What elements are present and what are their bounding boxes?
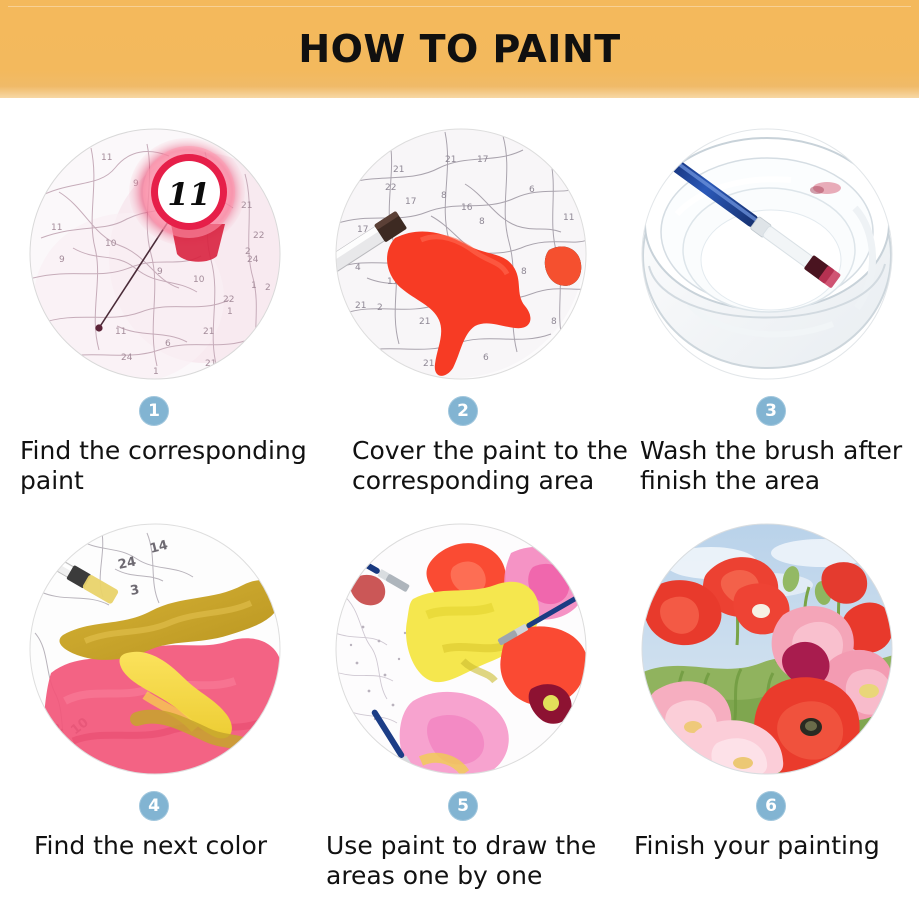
svg-text:1: 1 xyxy=(227,307,233,317)
svg-text:17: 17 xyxy=(477,155,488,165)
svg-text:21: 21 xyxy=(203,327,214,337)
pink-and-gold-paint-strokes-photo: 14 24 3 2 10 xyxy=(29,523,281,775)
svg-text:11: 11 xyxy=(167,177,210,213)
svg-text:21: 21 xyxy=(423,359,434,369)
svg-text:9: 9 xyxy=(59,255,65,265)
numbered-canvas-with-paint-pot-photo: 11 9 11 10 9 9 10 11 24 1 21 22 2 24 xyxy=(29,128,281,380)
svg-text:1: 1 xyxy=(153,367,159,377)
svg-text:24: 24 xyxy=(247,255,259,265)
step-card-5: 5 Use paint to draw the areas one by one xyxy=(308,493,614,893)
step-badge-3: 3 xyxy=(756,396,786,426)
svg-text:2: 2 xyxy=(377,303,383,313)
svg-text:11: 11 xyxy=(115,327,126,337)
svg-text:9: 9 xyxy=(157,267,163,277)
svg-text:16: 16 xyxy=(461,203,473,213)
step-card-2: 21 17 21 22 17 8 16 8 6 11 17 5 4 17 xyxy=(308,98,614,498)
svg-text:22: 22 xyxy=(385,183,396,193)
svg-text:21: 21 xyxy=(419,317,430,327)
step-caption-5: Use paint to draw the areas one by one xyxy=(326,831,616,890)
partially-painted-flower-canvas-photo xyxy=(335,523,587,775)
svg-text:24: 24 xyxy=(121,353,133,363)
brush-washing-in-water-bowl-photo xyxy=(641,128,893,380)
step-card-4: 14 24 3 2 10 xyxy=(2,493,308,893)
svg-text:11: 11 xyxy=(563,213,574,223)
step-card-1: 11 9 11 10 9 9 10 11 24 1 21 22 2 24 xyxy=(2,98,308,498)
step-caption-4: Find the next color xyxy=(34,831,324,861)
step-caption-6: Finish your painting xyxy=(634,831,919,861)
svg-text:10: 10 xyxy=(105,239,117,249)
svg-text:11: 11 xyxy=(51,223,62,233)
step-caption-1: Find the corresponding paint xyxy=(20,436,310,495)
page-title: HOW TO PAINT xyxy=(0,0,919,98)
step-badge-2: 2 xyxy=(448,396,478,426)
svg-text:22: 22 xyxy=(223,295,234,305)
svg-text:8: 8 xyxy=(441,191,447,201)
svg-text:2: 2 xyxy=(265,283,271,293)
svg-text:21: 21 xyxy=(393,165,404,175)
finished-poppy-painting-photo xyxy=(641,523,893,775)
svg-text:4: 4 xyxy=(355,263,361,273)
svg-text:6: 6 xyxy=(165,339,171,349)
svg-text:6: 6 xyxy=(483,353,489,363)
steps-grid: 11 9 11 10 9 9 10 11 24 1 21 22 2 24 xyxy=(0,98,919,898)
step-badge-1: 1 xyxy=(139,396,169,426)
svg-text:6: 6 xyxy=(529,185,535,195)
step-badge-5: 5 xyxy=(448,791,478,821)
svg-text:17: 17 xyxy=(405,197,416,207)
svg-text:21: 21 xyxy=(445,155,456,165)
header-band: HOW TO PAINT xyxy=(0,0,919,98)
svg-text:10: 10 xyxy=(193,275,205,285)
step-badge-6: 6 xyxy=(756,791,786,821)
step-caption-2: Cover the paint to the corresponding are… xyxy=(352,436,642,495)
svg-text:8: 8 xyxy=(551,317,557,327)
step-badge-4: 4 xyxy=(139,791,169,821)
svg-text:8: 8 xyxy=(479,217,485,227)
step-card-3: 3 Wash the brush after finish the area xyxy=(614,98,919,498)
step-caption-3: Wash the brush after finish the area xyxy=(640,436,919,495)
svg-text:11: 11 xyxy=(101,153,112,163)
step-card-6: 6 Finish your painting xyxy=(614,493,919,893)
svg-text:8: 8 xyxy=(521,267,527,277)
brush-painting-red-area-photo: 21 17 21 22 17 8 16 8 6 11 17 5 4 17 xyxy=(335,128,587,380)
svg-text:22: 22 xyxy=(253,231,264,241)
svg-text:21: 21 xyxy=(355,301,366,311)
svg-text:1: 1 xyxy=(251,281,257,291)
